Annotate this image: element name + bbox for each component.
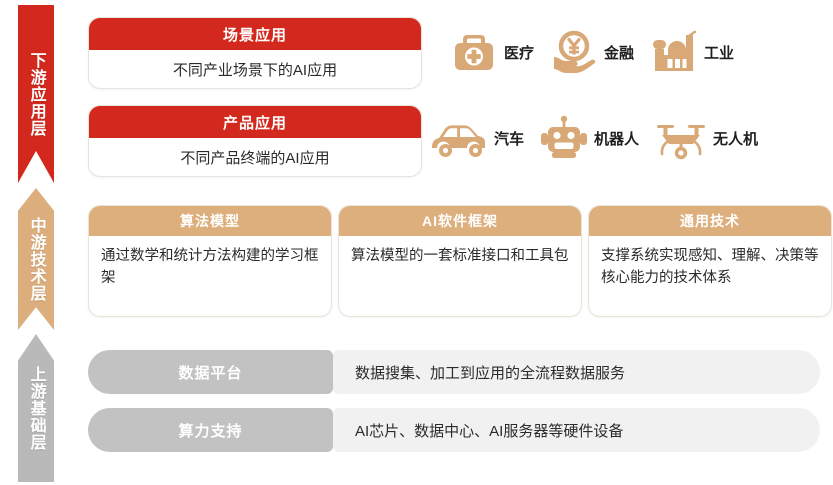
factory-icon xyxy=(648,26,700,78)
icon-row-product: 汽车 机器人 xyxy=(428,108,758,168)
application-card-scene-title: 场景应用 xyxy=(89,18,421,50)
infrastructure-row-compute-support-desc: AI芯片、数据中心、AI服务器等硬件设备 xyxy=(333,408,820,452)
icon-item-automotive: 汽车 xyxy=(428,112,524,164)
car-icon xyxy=(428,112,490,164)
industry-chain-diagram: 下游应用层 中游技术层 上游基础层 场景应用 不同产业场景下的AI应用 产品应用… xyxy=(0,0,833,485)
tier-ribbon-upstream: 上游基础层 xyxy=(18,334,54,482)
application-card-product-desc: 不同产品终端的AI应用 xyxy=(89,138,421,176)
tier-ribbon-midstream-label: 中游技术层 xyxy=(27,217,44,302)
infrastructure-row-compute-support: 算力支持 AI芯片、数据中心、AI服务器等硬件设备 xyxy=(88,408,820,452)
technology-card-framework-desc: 算法模型的一套标准接口和工具包 xyxy=(339,236,581,316)
icon-label-medical: 医疗 xyxy=(504,42,534,63)
infrastructure-row-compute-support-label: 算力支持 xyxy=(88,408,333,452)
infrastructure-row-data-platform-desc: 数据搜集、加工到应用的全流程数据服务 xyxy=(333,350,820,394)
icon-item-medical: 医疗 xyxy=(448,26,534,78)
technology-card-framework: AI软件框架 算法模型的一套标准接口和工具包 xyxy=(338,205,582,317)
application-card-product-title: 产品应用 xyxy=(89,106,421,138)
icon-label-drone: 无人机 xyxy=(713,128,758,149)
infrastructure-row-data-platform-label: 数据平台 xyxy=(88,350,333,394)
medical-bag-icon xyxy=(448,26,500,78)
icon-label-industry: 工业 xyxy=(704,42,734,63)
technology-card-general-desc: 支撑系统实现感知、理解、决策等核心能力的技术体系 xyxy=(589,236,831,316)
icon-item-drone: 无人机 xyxy=(653,112,758,164)
technology-card-general-title: 通用技术 xyxy=(589,206,831,236)
robot-head-icon xyxy=(538,112,590,164)
icon-row-scene: 医疗 金融 xyxy=(448,22,734,82)
application-card-product: 产品应用 不同产品终端的AI应用 xyxy=(88,105,422,177)
technology-card-general: 通用技术 支撑系统实现感知、理解、决策等核心能力的技术体系 xyxy=(588,205,832,317)
infrastructure-row-data-platform: 数据平台 数据搜集、加工到应用的全流程数据服务 xyxy=(88,350,820,394)
application-card-scene-desc: 不同产业场景下的AI应用 xyxy=(89,50,421,88)
application-card-scene: 场景应用 不同产业场景下的AI应用 xyxy=(88,17,422,89)
icon-item-industry: 工业 xyxy=(648,26,734,78)
icon-item-robot: 机器人 xyxy=(538,112,639,164)
tier-ribbon-downstream-label: 下游应用层 xyxy=(27,52,44,137)
technology-card-algorithm-desc: 通过数学和统计方法构建的学习框架 xyxy=(89,236,331,316)
icon-label-finance: 金融 xyxy=(604,42,634,63)
drone-icon xyxy=(653,112,709,164)
icon-item-finance: 金融 xyxy=(548,26,634,78)
technology-card-framework-title: AI软件框架 xyxy=(339,206,581,236)
technology-card-algorithm-title: 算法模型 xyxy=(89,206,331,236)
tier-ribbon-downstream: 下游应用层 xyxy=(18,5,54,183)
tier-ribbon-upstream-label: 上游基础层 xyxy=(27,366,44,451)
tier-ribbon-midstream: 中游技术层 xyxy=(18,188,54,330)
technology-card-algorithm: 算法模型 通过数学和统计方法构建的学习框架 xyxy=(88,205,332,317)
icon-label-automotive: 汽车 xyxy=(494,128,524,149)
hand-coin-yen-icon xyxy=(548,26,600,78)
icon-label-robot: 机器人 xyxy=(594,128,639,149)
